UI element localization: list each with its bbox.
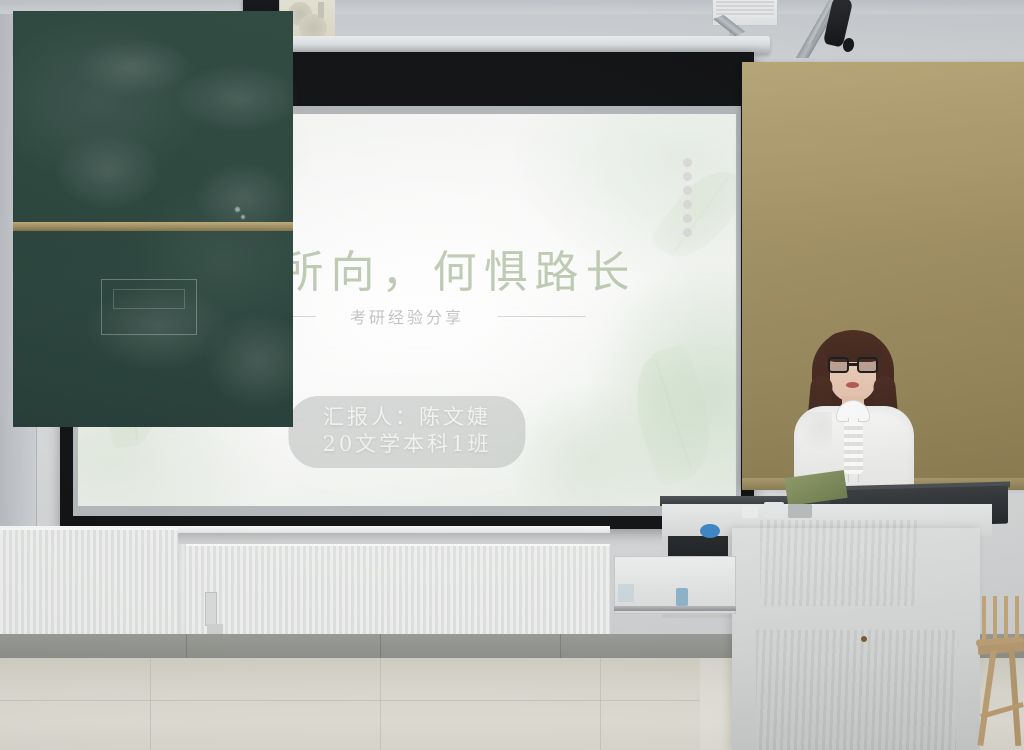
- radiator-valve: [205, 592, 217, 626]
- wooden-chair[interactable]: [972, 596, 1024, 750]
- slide-subtitle: 考研经验分享: [350, 304, 464, 328]
- dot-icon: [683, 172, 692, 181]
- chalk-dot: [241, 215, 245, 219]
- subtitle-rule-right: [498, 316, 586, 317]
- presenter-info-pill: 汇报人：陈文婕 20文学本科1班: [288, 396, 525, 468]
- leaf-vein: [655, 360, 691, 469]
- baseboard-seam: [560, 634, 561, 660]
- blouse-ruffle: [844, 422, 863, 474]
- chalkboard-divider: [13, 222, 293, 231]
- glasses-bridge: [849, 363, 857, 366]
- baseboard-seam: [186, 634, 187, 660]
- presenter-name-line: 汇报人：陈文婕: [322, 404, 491, 431]
- podium-wood-panel-lower[interactable]: [756, 630, 956, 750]
- chalk-dot: [235, 207, 240, 212]
- glasses-lens-left: [828, 357, 849, 373]
- dot-icon: [683, 214, 692, 223]
- slide-dot-decoration: [683, 158, 692, 237]
- desk-item: [764, 502, 784, 518]
- chair-leg: [977, 650, 996, 746]
- desk-items: [742, 500, 822, 522]
- baseboard-seam: [380, 634, 381, 660]
- chair-backrest: [982, 596, 1024, 640]
- dot-icon: [683, 200, 692, 209]
- ac-bar: [318, 2, 324, 18]
- tile-grout-line: [600, 658, 601, 750]
- chalk-smudge: [203, 311, 313, 411]
- blouse-shading: [796, 412, 832, 452]
- chalk-smudge: [173, 63, 303, 133]
- chalkboard-surface: [13, 11, 293, 427]
- podium-cabinet-knob[interactable]: [861, 636, 867, 642]
- dot-icon: [683, 186, 692, 195]
- blue-round-sticker: [700, 524, 720, 538]
- tile-grout-line: [0, 700, 700, 701]
- presenter-class-line: 20文学本科1班: [322, 431, 491, 458]
- podium-wood-panel-upper: [760, 520, 918, 606]
- lips: [846, 382, 859, 388]
- chair-leg: [1009, 650, 1022, 746]
- wall-radiator: [0, 528, 178, 638]
- glasses-lens-right: [857, 357, 878, 373]
- classroom-scene: 心之所向，何惧路长 考研经验分享 汇报人：陈文婕 20文学本科1班: [0, 0, 1024, 750]
- drawer-rail: [614, 606, 736, 611]
- drawer-bottle: [676, 588, 688, 606]
- desk-item: [788, 504, 812, 518]
- chalk-smudge: [53, 131, 163, 211]
- wall-radiator: [186, 544, 610, 640]
- chalk-drawing-rectangle: [113, 289, 185, 309]
- tile-grout-line: [150, 658, 151, 750]
- desk-item: [742, 506, 758, 518]
- dot-icon: [683, 158, 692, 167]
- glasses-icon: [828, 357, 878, 373]
- leaf-icon: [620, 342, 727, 487]
- tile-grout-line: [380, 658, 381, 750]
- drawer-item: [618, 584, 634, 602]
